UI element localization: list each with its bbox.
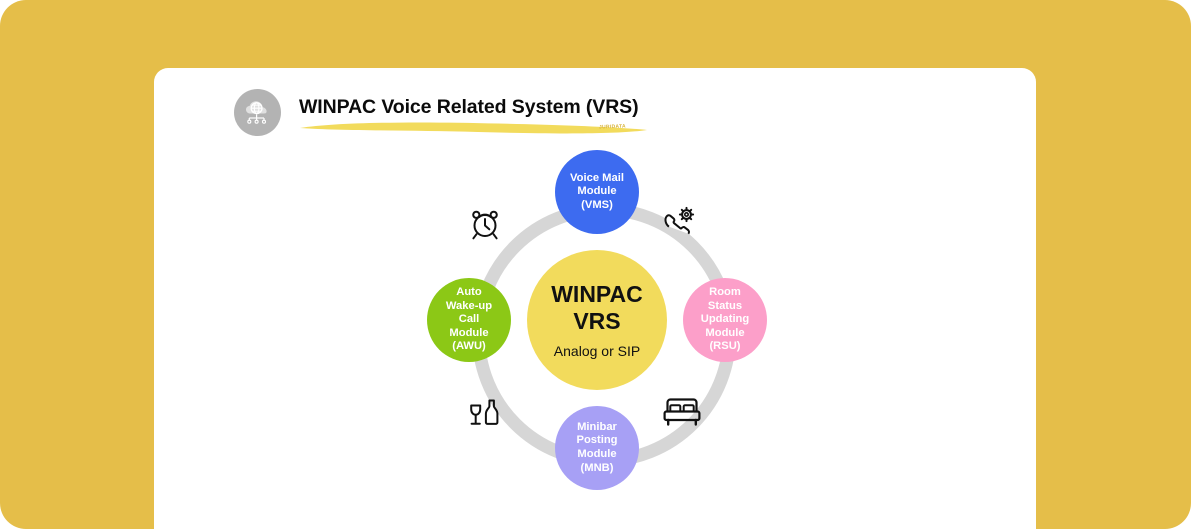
title-block: WINPAC Voice Related System (VRS) JURIDA… — [294, 96, 794, 146]
center-title-line2: VRS — [573, 308, 620, 335]
module-line: Call — [459, 313, 480, 327]
center-title-line1: WINPAC — [551, 281, 643, 308]
module-line: Module — [705, 327, 744, 341]
title-underline-brushstroke — [298, 121, 648, 135]
alarm-clock-icon — [463, 202, 507, 246]
module-minibar-posting[interactable]: Minibar Posting Module (MNB) — [555, 406, 639, 490]
page-title: WINPAC Voice Related System (VRS) — [299, 96, 638, 119]
module-line: Posting — [576, 434, 617, 448]
module-line: (RSU) — [709, 340, 740, 354]
phone-gear-icon — [658, 200, 702, 244]
module-line: Module — [449, 327, 488, 341]
page-background: WINPAC Voice Related System (VRS) JURIDA… — [0, 0, 1191, 529]
brand-logo — [234, 89, 281, 136]
content-card: WINPAC Voice Related System (VRS) JURIDA… — [154, 68, 1036, 529]
module-line: Wake-up — [446, 300, 492, 314]
module-line: Auto — [456, 286, 481, 300]
module-line: (VMS) — [581, 199, 613, 213]
module-line: Module — [577, 185, 616, 199]
module-line: Minibar — [577, 421, 617, 435]
module-voice-mail[interactable]: Voice Mail Module (VMS) — [555, 150, 639, 234]
module-room-status-updating[interactable]: Room Status Updating Module (RSU) — [683, 278, 767, 362]
wine-glass-bottle-icon — [464, 392, 508, 436]
center-subtitle: Analog or SIP — [554, 342, 640, 360]
watermark-label: JURIDATA — [599, 124, 626, 131]
bed-icon — [660, 390, 704, 434]
module-line: (MNB) — [581, 462, 614, 476]
module-line: Module — [577, 448, 616, 462]
vrs-cycle-diagram: Voice Mail Module (VMS) Room Status Upda… — [420, 140, 788, 529]
module-auto-wake-up-call[interactable]: Auto Wake-up Call Module (AWU) — [427, 278, 511, 362]
module-line: Updating — [701, 313, 749, 327]
module-line: (AWU) — [452, 340, 486, 354]
module-line: Voice Mail — [570, 172, 624, 186]
center-hub-winpac-vrs[interactable]: WINPAC VRS Analog or SIP — [527, 250, 667, 390]
module-line: Status — [708, 300, 742, 314]
module-line: Room — [709, 286, 741, 300]
cloud-globe-network-icon — [241, 96, 275, 130]
